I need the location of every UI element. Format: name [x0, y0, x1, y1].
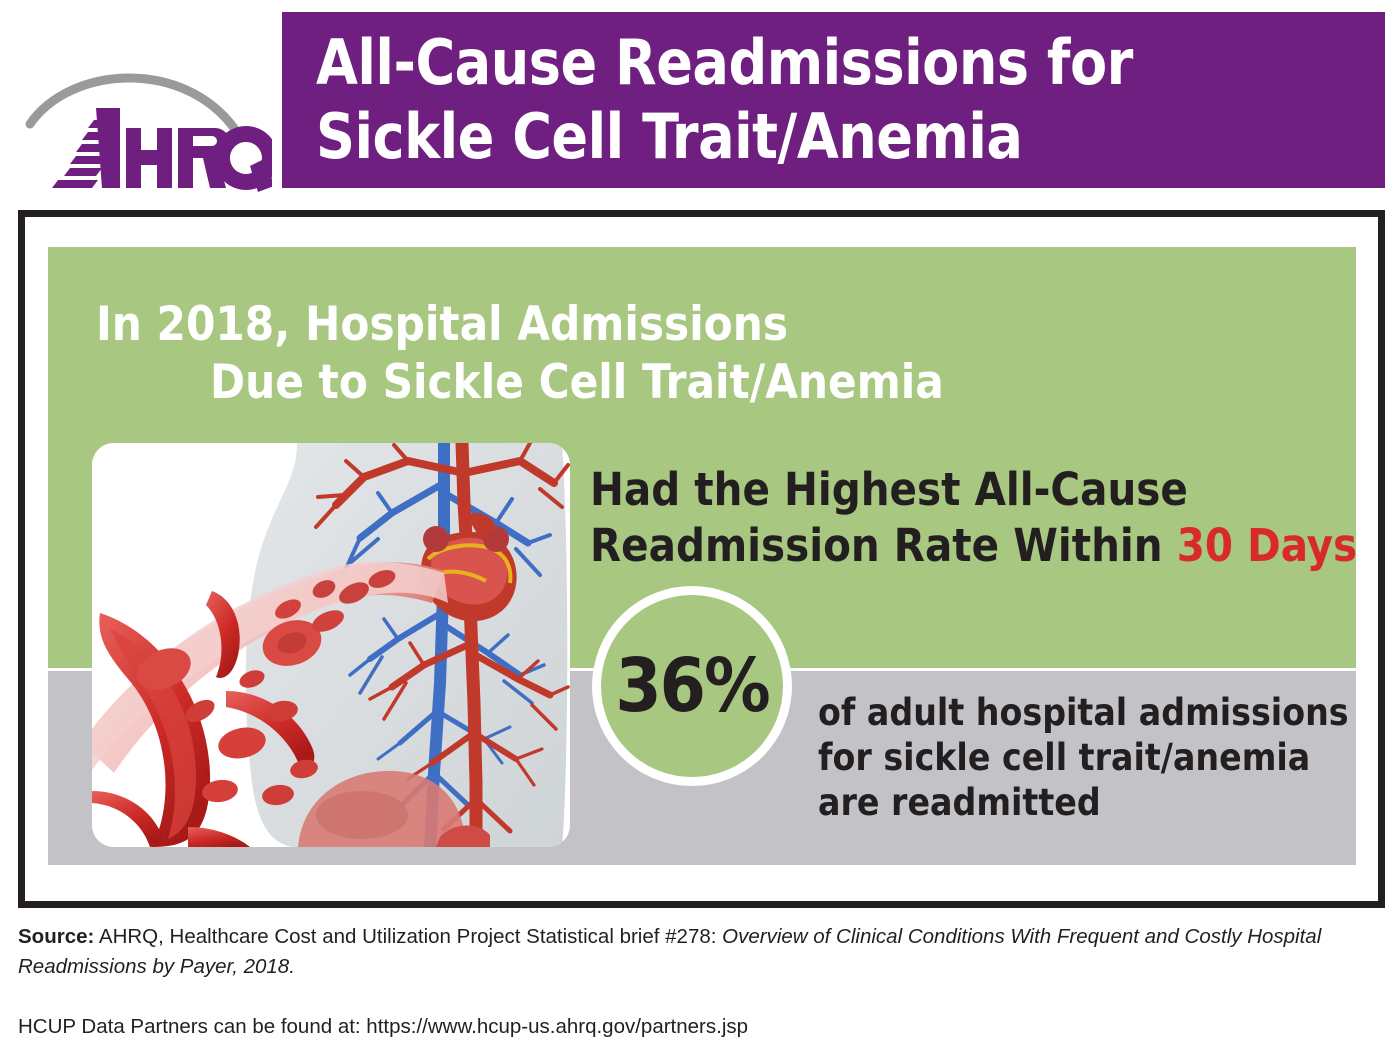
stat-value: 36% [615, 649, 768, 723]
ahrq-logo-svg [22, 62, 272, 192]
headline: In 2018, Hospital Admissions Due to Sick… [96, 296, 1076, 412]
sickle-cell-illustration [92, 443, 570, 847]
letter-a-striped [52, 108, 120, 188]
statement: Had the Highest All-Cause Readmission Ra… [590, 462, 1360, 574]
headline-line-1: In 2018, Hospital Admissions [96, 296, 1076, 354]
stat-caption-line-3: are readmitted [818, 780, 1358, 825]
letter-h [126, 128, 172, 188]
source-citation: Source: AHRQ, Healthcare Cost and Utiliz… [18, 922, 1343, 982]
arc-icon [30, 78, 234, 128]
page-header: All-Cause Readmissions for Sickle Cell T… [0, 0, 1400, 200]
statement-accent-30-days: 30 Days [1177, 519, 1357, 572]
source-text: AHRQ, Healthcare Cost and Utilization Pr… [94, 925, 722, 948]
source-label: Source: [18, 925, 94, 948]
partners-line: HCUP Data Partners can be found at: http… [18, 1012, 1358, 1042]
statement-line-1: Had the Highest All-Cause [590, 462, 1360, 518]
ahrq-logo [22, 62, 272, 192]
headline-line-2: Due to Sickle Cell Trait/Anemia [96, 354, 1076, 412]
footer: Source: AHRQ, Healthcare Cost and Utiliz… [18, 922, 1358, 1042]
statement-line-2-prefix: Readmission Rate Within [590, 519, 1177, 572]
title-banner: All-Cause Readmissions for Sickle Cell T… [282, 12, 1385, 188]
stat-circle: 36% [592, 586, 792, 786]
stat-caption: of adult hospital admissions for sickle … [818, 690, 1358, 825]
page-title-line-2: Sickle Cell Trait/Anemia [316, 100, 1353, 174]
page-title-line-1: All-Cause Readmissions for [316, 26, 1353, 100]
stat-caption-line-1: of adult hospital admissions [818, 690, 1358, 735]
illustration-card [92, 443, 570, 847]
stat-caption-line-2: for sickle cell trait/anemia [818, 735, 1358, 780]
statement-line-2: Readmission Rate Within 30 Days [590, 518, 1360, 574]
